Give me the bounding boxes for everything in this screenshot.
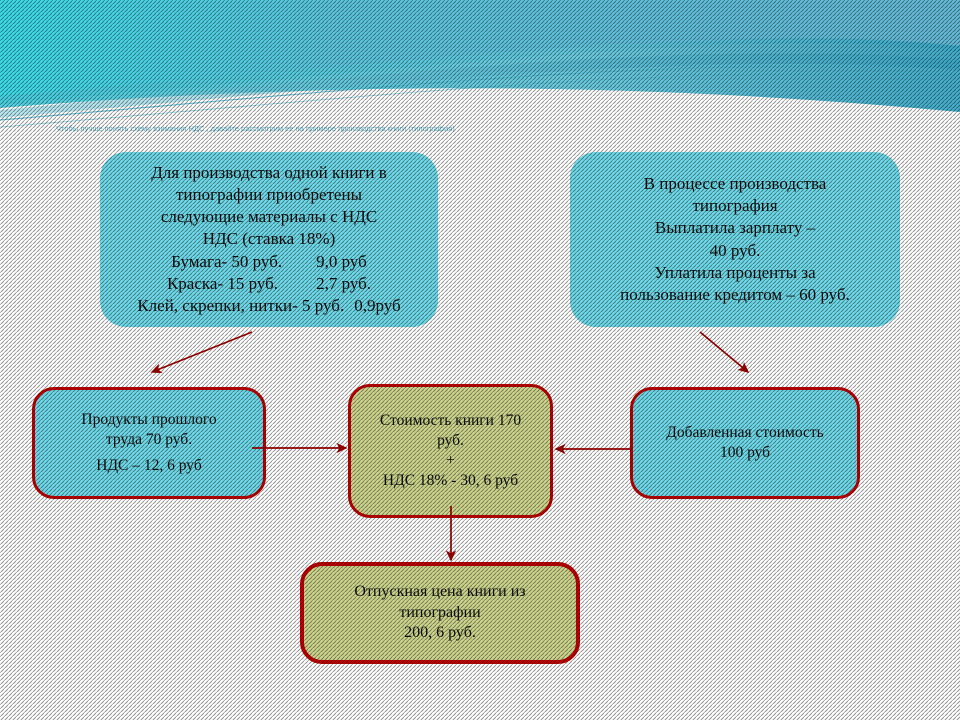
materials-row-ink-item: Краска- 15 руб. — [167, 273, 278, 295]
book-cost-line-4: НДС 18% - 30, 6 руб — [351, 471, 550, 491]
process-line-3: Выплатила зарплату – — [570, 217, 900, 239]
materials-row-glue-vat: 0,9руб — [344, 295, 400, 317]
past-labor-line-1: Продукты прошлого — [35, 410, 263, 430]
materials-row-ink-vat: 2,7 руб. — [278, 273, 371, 295]
arrow-materials-to-past-labor — [152, 332, 252, 372]
box-release-price: Отпускная цена книги из типографии 200, … — [300, 562, 580, 664]
process-line-2: типография — [570, 195, 900, 217]
added-value-line-1: Добавленная стоимость — [633, 423, 857, 443]
materials-row-ink: Краска- 15 руб. 2,7 руб. — [100, 273, 438, 295]
materials-line-1: Для производства одной книги в — [100, 162, 438, 184]
header-wave-decoration — [0, 0, 960, 130]
materials-row-paper-vat: 9,0 руб — [282, 251, 367, 273]
box-production-process: В процессе производства типография Выпла… — [570, 152, 900, 327]
materials-line-2: типографии приобретены — [100, 184, 438, 206]
materials-line-4: НДС (ставка 18%) — [100, 228, 438, 250]
materials-line-3: следующие материалы с НДС — [100, 206, 438, 228]
arrow-process-to-added-value — [700, 332, 748, 372]
materials-row-glue-item: Клей, скрепки, нитки- 5 руб. — [137, 295, 344, 317]
release-price-line-1: Отпускная цена книги из — [304, 582, 576, 603]
release-price-line-2: типографии — [304, 603, 576, 624]
box-added-value: Добавленная стоимость 100 руб — [630, 387, 860, 499]
materials-row-glue: Клей, скрепки, нитки- 5 руб. 0,9руб — [100, 295, 438, 317]
process-line-6: пользование кредитом – 60 руб. — [570, 284, 900, 306]
book-cost-plus-sign: + — [351, 451, 550, 471]
process-line-5: Уплатила проценты за — [570, 262, 900, 284]
box-past-labor-products: Продукты прошлого труда 70 руб. НДС – 12… — [32, 387, 266, 499]
book-cost-line-2: руб. — [351, 431, 550, 451]
process-line-1: В процессе производства — [570, 173, 900, 195]
box-materials: Для производства одной книги в типографи… — [100, 152, 438, 327]
release-price-line-3: 200, 6 руб. — [304, 623, 576, 644]
slide-canvas: Чтобы лучше понять схему взимания НДС , … — [0, 0, 960, 720]
box-book-cost: Стоимость книги 170 руб. + НДС 18% - 30,… — [348, 384, 553, 518]
process-line-4: 40 руб. — [570, 240, 900, 262]
intro-caption: Чтобы лучше понять схему взимания НДС , … — [56, 124, 596, 135]
added-value-line-2: 100 руб — [633, 443, 857, 463]
book-cost-line-1: Стоимость книги 170 — [351, 411, 550, 431]
past-labor-line-2: труда 70 руб. — [35, 430, 263, 450]
materials-row-paper: Бумага- 50 руб. 9,0 руб — [100, 251, 438, 273]
materials-row-paper-item: Бумага- 50 руб. — [171, 251, 282, 273]
past-labor-line-3: НДС – 12, 6 руб — [35, 456, 263, 476]
